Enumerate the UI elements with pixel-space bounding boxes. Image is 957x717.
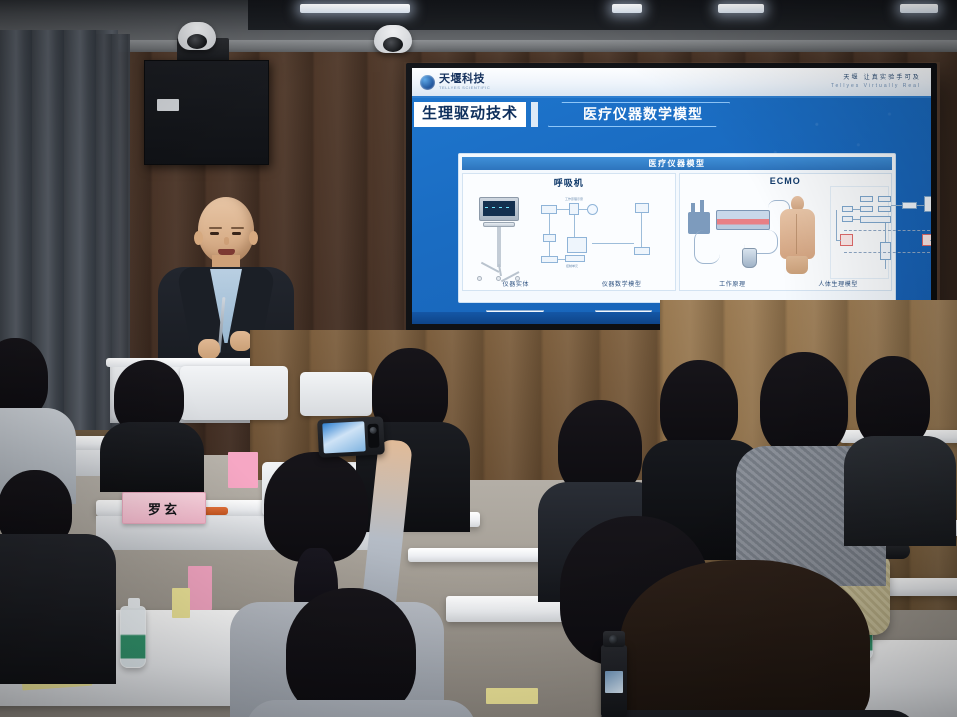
slide-title-bar: 生理驱动技术 医疗仪器数学模型: [412, 98, 931, 131]
sticky-note: [172, 588, 190, 618]
ecmo-working-principle-illustration: [680, 186, 828, 279]
ecmo-artwork: [680, 186, 892, 279]
caption-device-math-model: 仪器数学模型: [569, 279, 675, 290]
presenter-hand: [198, 339, 220, 359]
ventilator-base: [477, 263, 521, 281]
brand-name-en: TELLYES SCIENTIFIC: [439, 86, 490, 90]
ecmo-captions: 工作原理 人体生理模型: [680, 279, 892, 290]
desk-name-card: 罗玄: [122, 492, 206, 524]
medical-device-model-panel: 医疗仪器模型 呼吸机: [458, 153, 896, 303]
presentation-slide: 天堰科技 TELLYES SCIENTIFIC 天堰 让真实验手可及 Telly…: [412, 68, 931, 324]
osmo-pocket-camera[interactable]: [601, 645, 627, 717]
slogan-en: Tellyes Virtually Real: [831, 83, 921, 89]
brand-lockup: 天堰科技 TELLYES SCIENTIFIC: [420, 74, 490, 90]
ecmo-heading: ECMO: [680, 174, 892, 186]
ceiling-led-strip: [718, 4, 764, 13]
ecmo-tubing: [694, 230, 720, 264]
ventilator-schematic-diagram: 工作原理示意 控制单元: [535, 195, 671, 275]
panel-body: 呼吸机: [462, 173, 892, 291]
slide-header: 天堰科技 TELLYES SCIENTIFIC 天堰 让真实验手可及 Telly…: [412, 68, 931, 98]
ventilator-heading: 呼吸机: [463, 174, 675, 189]
ceiling-dome-camera-icon: [178, 22, 216, 50]
ecmo-reservoir-icon: [742, 248, 757, 268]
sticky-note: [228, 452, 258, 488]
ecmo-oxygenator-icon: [716, 210, 770, 230]
gimbal-camera-icon: [603, 631, 625, 647]
human-physiology-model-diagram: [830, 186, 890, 279]
slide-chapter-title: 生理驱动技术: [414, 102, 526, 127]
ceiling-led-strip: [900, 4, 938, 13]
wall-display[interactable]: 天堰科技 TELLYES SCIENTIFIC 天堰 让真实验手可及 Telly…: [406, 63, 937, 331]
ceiling-led-strip: [612, 4, 642, 13]
presenter-hand: [230, 331, 252, 351]
slogan-cn: 天堰 让真实验手可及: [831, 75, 921, 83]
globe-logo-icon: [420, 75, 435, 90]
ventilator-machine-illustration: [477, 197, 521, 279]
slide-topic-title: 医疗仪器数学模型: [548, 102, 730, 127]
caption-physiology-model: 人体生理模型: [785, 279, 891, 290]
presenter-head: [198, 197, 254, 263]
brand-slogan: 天堰 让真实验手可及 Tellyes Virtually Real: [831, 75, 921, 89]
ventilator-artwork: 工作原理示意 控制单元: [463, 189, 675, 279]
title-divider: [531, 102, 538, 127]
ceiling-led-strip: [300, 4, 410, 13]
smartphone-recording[interactable]: [317, 416, 385, 457]
patient-body-illustration: [776, 196, 818, 274]
desk: [860, 640, 957, 717]
speaker-brand-badge: [157, 99, 179, 111]
ecmo-section: ECMO: [679, 173, 893, 291]
desk: [408, 548, 558, 562]
brand-name-cn: 天堰科技: [439, 74, 490, 85]
ceiling-dome-camera-icon: [374, 25, 412, 53]
sticky-note: [188, 566, 212, 610]
ventilator-monitor-icon: [479, 197, 519, 221]
water-bottle: [120, 606, 146, 668]
ventilator-section: 呼吸机: [462, 173, 676, 291]
conference-room-scene: 天堰科技 TELLYES SCIENTIFIC 天堰 让真实验手可及 Telly…: [0, 0, 957, 717]
chair-back: [300, 372, 372, 416]
sticky-note: [486, 688, 538, 704]
phone-screen: [322, 421, 366, 453]
phone-camera-icon: [367, 424, 379, 449]
wall-speaker: [144, 60, 269, 165]
name-card-text: 罗玄: [148, 499, 180, 518]
gimbal-screen: [605, 671, 623, 693]
caption-working-principle: 工作原理: [680, 279, 786, 290]
chair-back: [180, 366, 288, 420]
ventilator-pole: [497, 227, 501, 267]
panel-header-label: 医疗仪器模型: [462, 157, 892, 170]
